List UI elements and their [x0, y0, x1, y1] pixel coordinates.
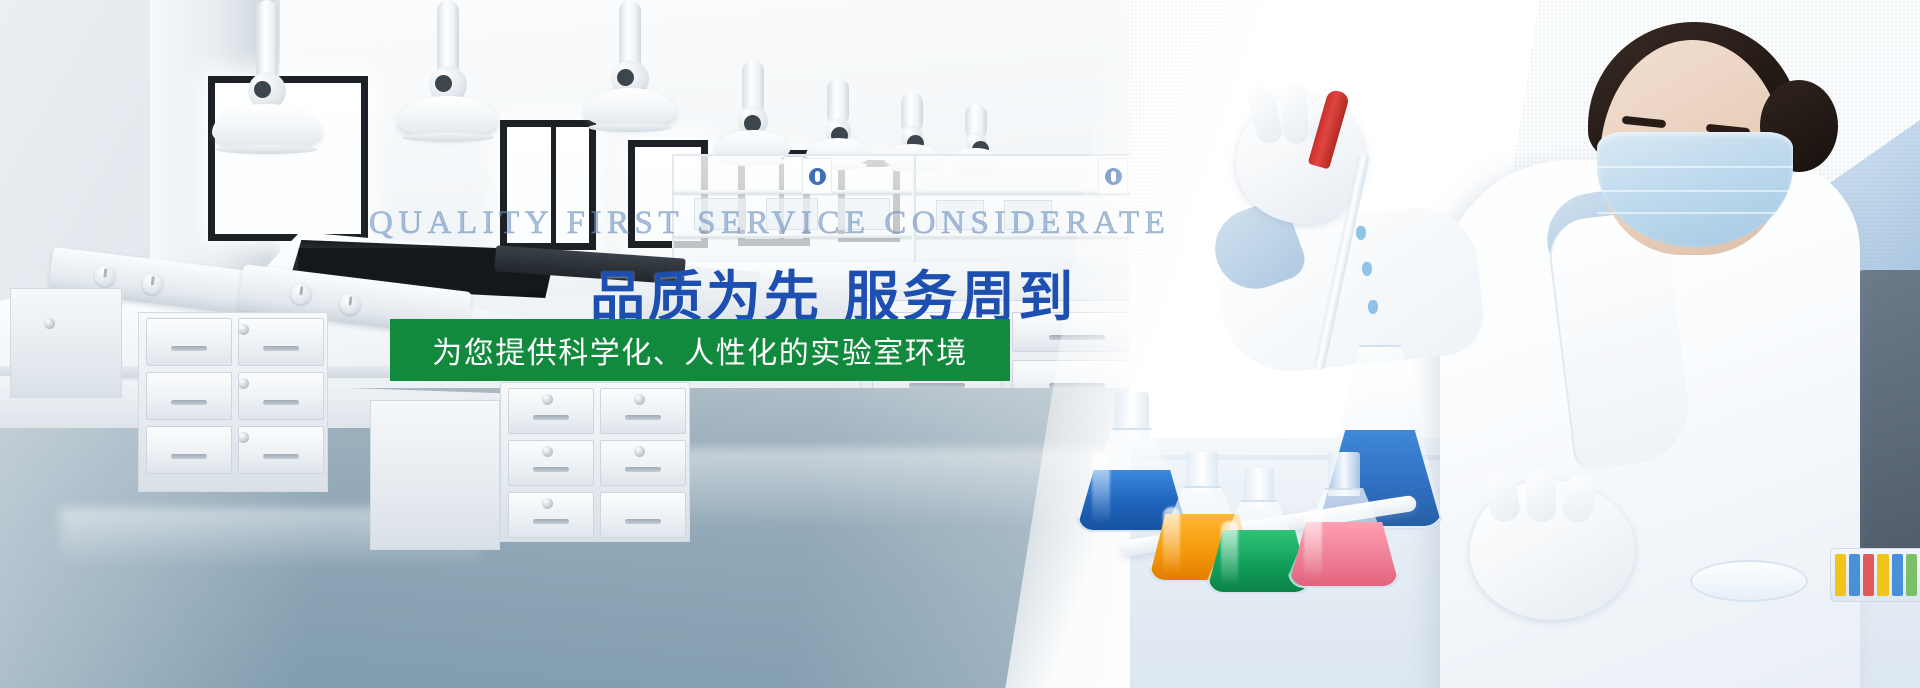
mask-pleat: [1597, 166, 1793, 168]
flask-pink: [1288, 452, 1400, 588]
cabinet-left: [10, 288, 122, 398]
drawer-lock-icon: [542, 394, 553, 405]
turret-knob-icon: [338, 292, 361, 315]
liquid-drop: [1356, 226, 1366, 240]
mask-pleat: [1597, 212, 1793, 214]
drawer: [238, 372, 324, 420]
cabinet-lock-icon: [44, 318, 55, 329]
drawer-lock-icon: [238, 378, 249, 389]
drawer: [238, 318, 324, 366]
drawer-lock-icon: [634, 394, 645, 405]
rack-tip: [1849, 554, 1860, 596]
rack-tip: [1892, 554, 1903, 596]
drawer: [600, 492, 686, 538]
pipette-tip-rack: [1830, 548, 1920, 602]
gloved-hand-lower: [1470, 480, 1635, 620]
drawer-lock-icon: [634, 446, 645, 457]
flask-highlight: [1221, 521, 1238, 587]
drawer: [146, 372, 232, 420]
liquid-drop: [1368, 300, 1378, 314]
mask-pleat: [1597, 190, 1793, 192]
petri-dish: [1690, 560, 1808, 602]
fume-extraction-arm-icon: [716, 60, 790, 168]
lab-hero-banner: QUALITY FIRST SERVICE CONSIDERATE 品质为先 服…: [0, 0, 1920, 688]
drawer: [146, 318, 232, 366]
rack-tip: [1906, 554, 1917, 596]
liquid-drop: [1362, 262, 1372, 276]
fume-extraction-arm-icon: [212, 0, 322, 150]
turret-knob-icon: [289, 282, 312, 305]
turret-knob-icon: [141, 272, 164, 295]
drawer: [146, 426, 232, 474]
rack-tip: [1863, 554, 1874, 596]
subtitle-green-bar: 为您提供科学化、人性化的实验室环境: [390, 319, 1010, 381]
drawer-lock-icon: [542, 446, 553, 457]
drawer: [238, 426, 324, 474]
drawer-lock-icon: [238, 432, 249, 443]
flask-highlight: [1092, 451, 1110, 524]
drawer-lock-icon: [542, 498, 553, 509]
cabinet-front-right: [370, 400, 500, 550]
flask-highlight: [1163, 507, 1180, 575]
flask-highlight: [1304, 509, 1322, 580]
rack-tip: [1877, 554, 1888, 596]
drawer-lock-icon: [238, 324, 249, 335]
fume-extraction-arm-icon: [584, 0, 676, 132]
rack-tip: [1835, 554, 1846, 596]
subtitle-chinese: 为您提供科学化、人性化的实验室环境: [432, 328, 968, 372]
safety-sign-icon: [802, 158, 832, 194]
gloved-hand-upper: [1236, 96, 1366, 224]
fume-extraction-arm-icon: [398, 0, 498, 140]
slogan-english: QUALITY FIRST SERVICE CONSIDERATE: [369, 205, 1170, 242]
turret-knob-icon: [93, 264, 116, 287]
